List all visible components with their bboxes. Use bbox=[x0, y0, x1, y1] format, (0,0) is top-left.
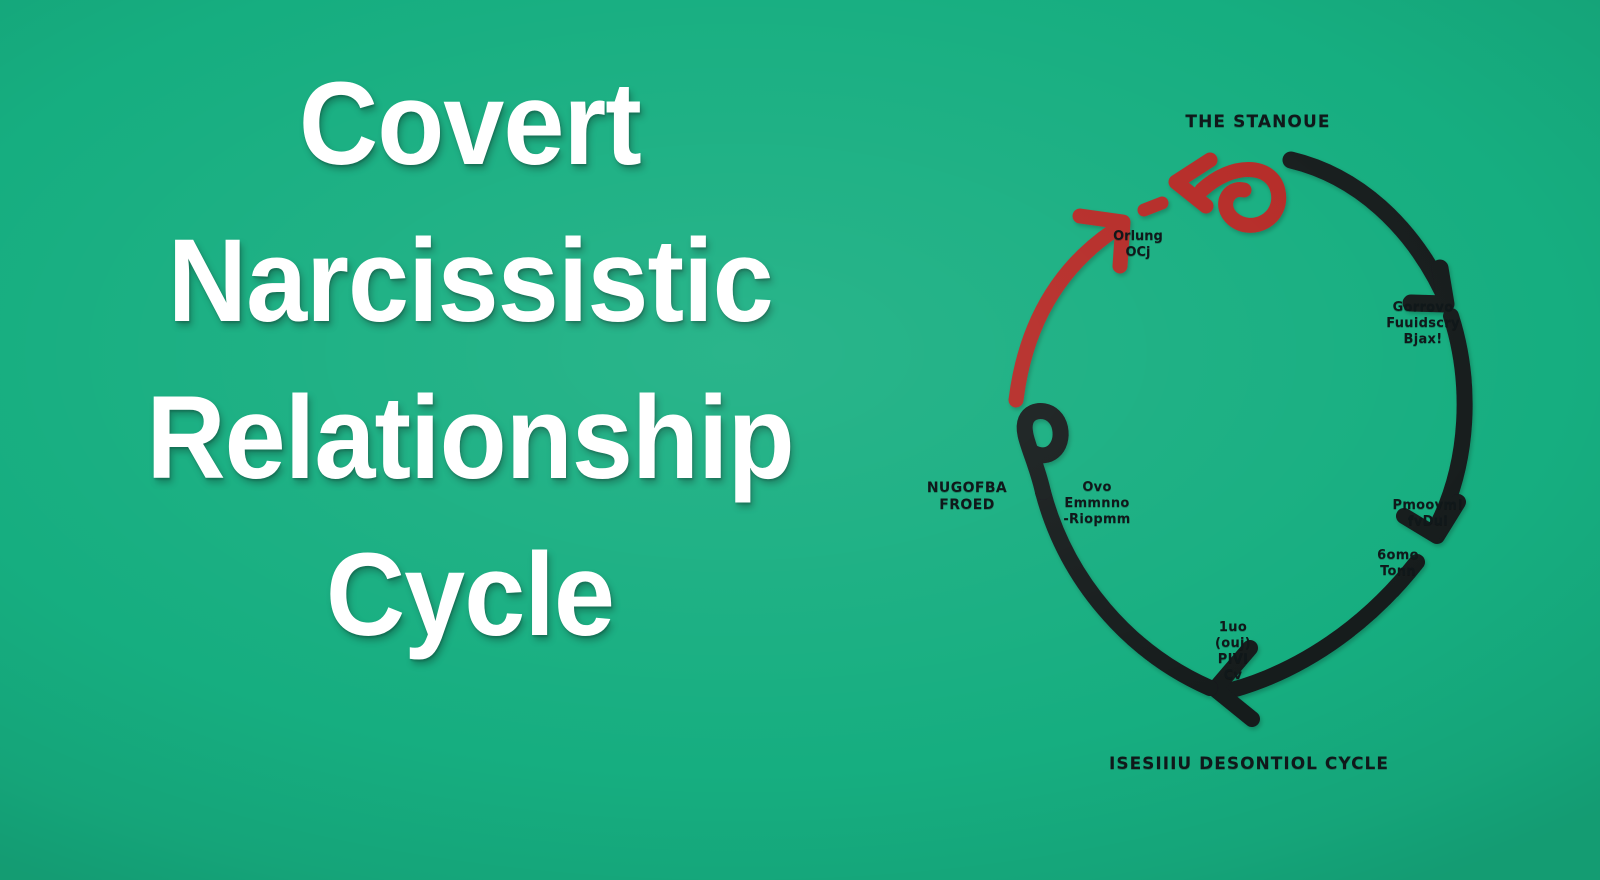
cycle-arc-top-right bbox=[1291, 160, 1443, 292]
diagram-label-left: NUGOFBA FROED bbox=[920, 480, 1014, 514]
diagram-label-right-lower: 6omo Tonn bbox=[1358, 548, 1438, 580]
title-line-2: Narcissistic bbox=[167, 203, 772, 360]
diagram-label-red-arrow: Orlung OCj bbox=[1098, 229, 1178, 261]
diagram-label-right-upper: Pmoovm! fvDui bbox=[1382, 498, 1474, 530]
diagram-label-inner-left: Ovo Emmnno -Riopmm bbox=[1046, 480, 1148, 528]
red-spiral-curl bbox=[1202, 169, 1279, 225]
diagram-caption: ISESIIIU DESONTIOL CYCLE bbox=[1104, 754, 1394, 775]
red-dash-segment bbox=[1144, 203, 1162, 210]
poster-title: Covert Narcissistic Relationship Cycle bbox=[60, 46, 880, 746]
diagram-label-bottom-middle: 1uo (ouj) PIVI Cv bbox=[1196, 620, 1270, 683]
poster-canvas: Covert Narcissistic Relationship Cycle bbox=[0, 0, 1600, 880]
title-line-1: Covert bbox=[299, 46, 641, 203]
title-line-4: Cycle bbox=[326, 517, 614, 674]
diagram-label-top: THE STANOUE bbox=[1178, 112, 1338, 133]
diagram-label-upper-right: Gorrovo Fuuidscry Bjax! bbox=[1378, 300, 1468, 348]
title-line-3: Relationship bbox=[146, 360, 793, 517]
